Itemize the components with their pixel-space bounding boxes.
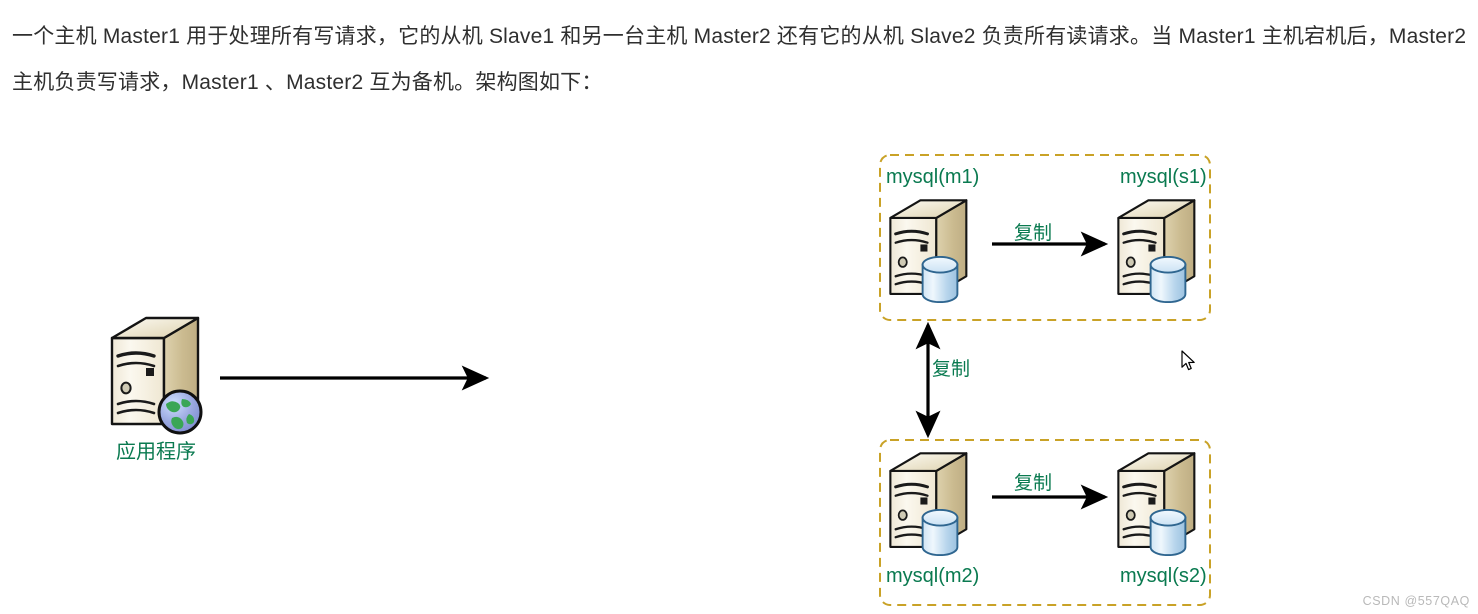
watermark-text: CSDN @557QAQ [1363,594,1470,608]
node-label-m2: mysql(m2) [886,565,979,588]
server-icon-m1 [890,200,966,302]
edge-label-replicate-bidirectional: 复制 [932,354,970,381]
edge-label-replicate-top: 复制 [1014,218,1052,245]
app-server-icon [112,318,201,433]
architecture-diagram: 应用程序 mysql(m1) mysql(s1) mysql(m2) mysql… [0,110,1478,614]
app-node-label: 应用程序 [116,435,196,464]
server-icon-s2 [1118,453,1194,555]
node-label-s2: mysql(s2) [1120,565,1207,588]
node-label-s1: mysql(s1) [1120,166,1207,189]
edge-label-replicate-bottom: 复制 [1014,468,1052,495]
intro-paragraph: 一个主机 Master1 用于处理所有写请求，它的从机 Slave1 和另一台主… [12,14,1472,106]
server-icon-m2 [890,453,966,555]
node-label-m1: mysql(m1) [886,166,979,189]
server-icon-s1 [1118,200,1194,302]
architecture-diagram-canvas [0,110,1478,614]
